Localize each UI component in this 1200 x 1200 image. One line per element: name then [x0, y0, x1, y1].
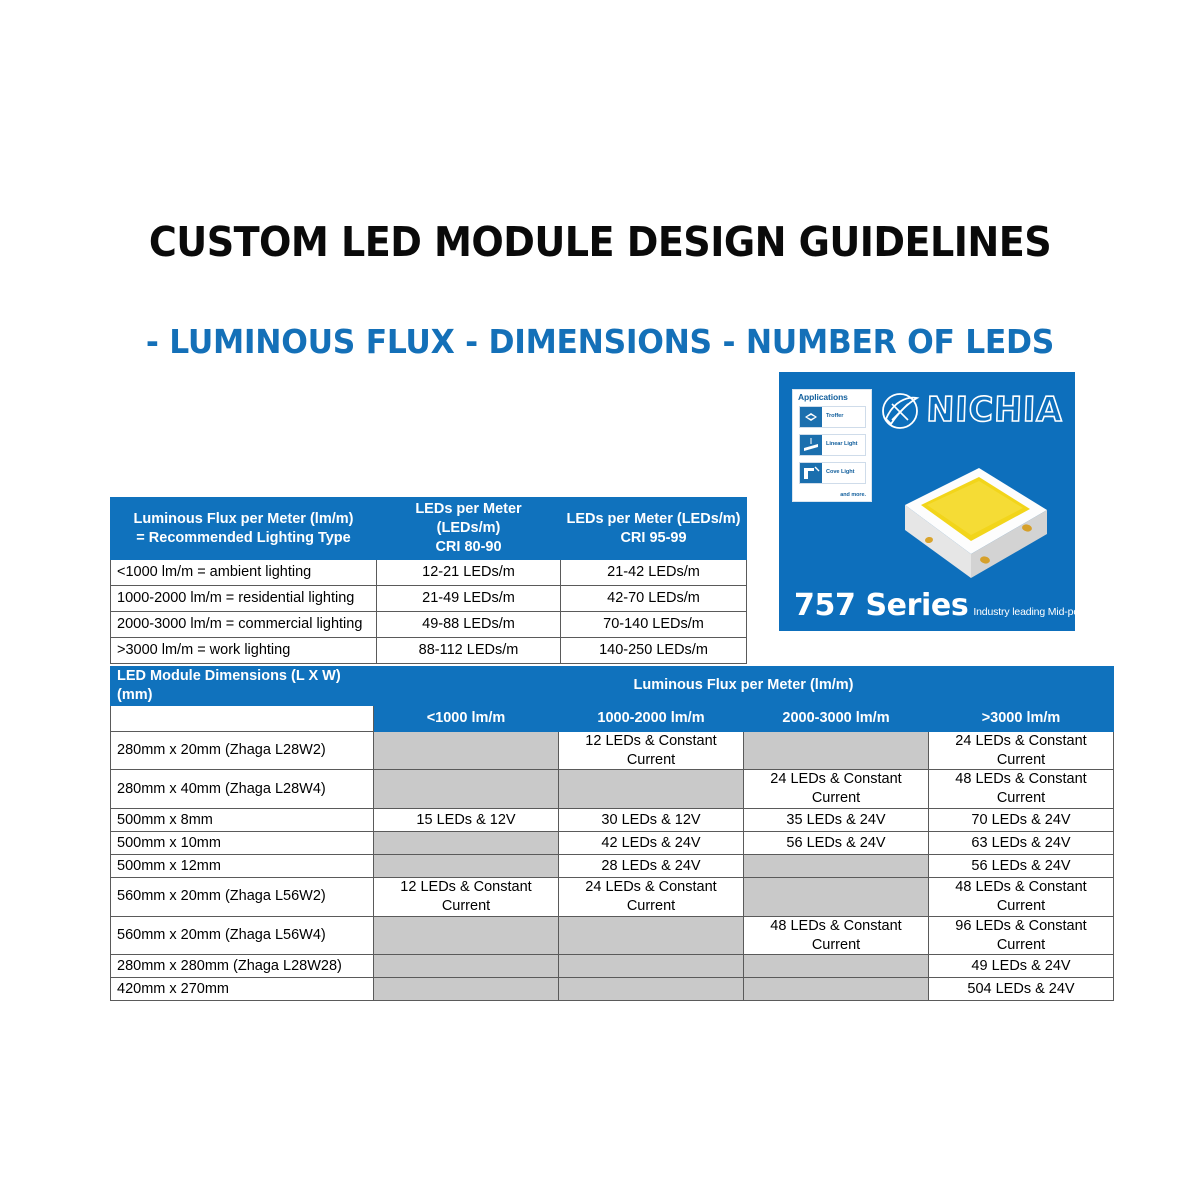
nichia-logo: NICHIA [877, 388, 1059, 434]
nichia-wordmark: NICHIA [926, 390, 1064, 430]
cell-module-dimension: 500mm x 12mm [111, 855, 374, 878]
cell-led-config [744, 731, 929, 770]
cell-lighting-type: 2000-3000 lm/m = commercial lighting [111, 612, 377, 638]
nichia-product-card: Applications Troffer Linear Light Cove L… [779, 372, 1075, 631]
cell-led-config [744, 978, 929, 1001]
nichia-swoosh-icon [877, 388, 923, 434]
cell-lighting-type: >3000 lm/m = work lighting [111, 638, 377, 664]
column-header-cri-95-99: LEDs per Meter (LEDs/m) CRI 95-99 [561, 498, 747, 560]
cell-led-config: 42 LEDs & 24V [559, 832, 744, 855]
header-line-2: CRI 95-99 [566, 529, 741, 548]
cell-cri-80-90: 49-88 LEDs/m [377, 612, 561, 638]
series-name: 757 Series [794, 588, 968, 623]
cell-led-config: 56 LEDs & 24V [744, 832, 929, 855]
table-row: 420mm x 270mm504 LEDs & 24V [111, 978, 1114, 1001]
and-more-label: and more. [840, 492, 866, 498]
cell-led-config [374, 955, 559, 978]
cove-light-icon [800, 463, 822, 483]
table-row: 500mm x 10mm42 LEDs & 24V56 LEDs & 24V63… [111, 832, 1114, 855]
cell-led-config: 49 LEDs & 24V [929, 955, 1114, 978]
cell-led-config [559, 770, 744, 809]
page-subtitle: - LUMINOUS FLUX - DIMENSIONS - NUMBER OF… [30, 322, 1170, 361]
cell-led-config: 56 LEDs & 24V [929, 855, 1114, 878]
cell-led-config: 48 LEDs & Constant Current [744, 916, 929, 955]
application-item-cove-light: Cove Light [799, 462, 866, 484]
table-group-header-row: LED Module Dimensions (L X W)(mm) Lumino… [111, 667, 1114, 706]
column-header-cri-80-90: LEDs per Meter (LEDs/m) CRI 80-90 [377, 498, 561, 560]
linear-light-icon [800, 435, 822, 455]
cell-led-config [559, 916, 744, 955]
table-row: 560mm x 20mm (Zhaga L56W2)12 LEDs & Cons… [111, 878, 1114, 917]
applications-title: Applications [798, 392, 848, 402]
application-label: Cove Light [826, 469, 854, 475]
cell-cri-80-90: 88-112 LEDs/m [377, 638, 561, 664]
series-tagline: Industry leading Mid-power LED [973, 606, 1075, 618]
page-title: CUSTOM LED MODULE DESIGN GUIDELINES [42, 218, 1158, 266]
applications-panel: Applications Troffer Linear Light Cove L… [792, 389, 872, 502]
series-caption: 757 SeriesIndustry leading Mid-power LED [794, 588, 1075, 623]
cell-led-config [744, 878, 929, 917]
cell-led-config: 48 LEDs & Constant Current [929, 770, 1114, 809]
cell-led-config: 504 LEDs & 24V [929, 978, 1114, 1001]
cell-led-config: 24 LEDs & Constant Current [744, 770, 929, 809]
application-item-linear-light: Linear Light [799, 434, 866, 456]
table-subheader-row: <1000 lm/m 1000-2000 lm/m 2000-3000 lm/m… [111, 705, 1114, 731]
application-item-troffer: Troffer [799, 406, 866, 428]
cell-led-config: 63 LEDs & 24V [929, 832, 1114, 855]
cell-module-dimension: 280mm x 20mm (Zhaga L28W2) [111, 731, 374, 770]
cell-led-config [374, 731, 559, 770]
header-line-1: LEDs per Meter (LEDs/m) [415, 501, 521, 536]
table-row: >3000 lm/m = work lighting 88-112 LEDs/m… [111, 638, 747, 664]
table-row: 1000-2000 lm/m = residential lighting 21… [111, 586, 747, 612]
cell-led-config: 28 LEDs & 24V [559, 855, 744, 878]
cell-led-config: 30 LEDs & 12V [559, 809, 744, 832]
application-label: Linear Light [826, 441, 857, 447]
table-row: 2000-3000 lm/m = commercial lighting 49-… [111, 612, 747, 638]
table-row: 500mm x 12mm28 LEDs & 24V56 LEDs & 24V [111, 855, 1114, 878]
cell-module-dimension: 500mm x 8mm [111, 809, 374, 832]
cell-led-config [744, 955, 929, 978]
cell-module-dimension: 560mm x 20mm (Zhaga L56W2) [111, 878, 374, 917]
cell-led-config [374, 916, 559, 955]
cell-led-config [559, 955, 744, 978]
cell-led-config: 96 LEDs & Constant Current [929, 916, 1114, 955]
subheader-2000-3000: 2000-3000 lm/m [744, 705, 929, 731]
cell-cri-80-90: 21-49 LEDs/m [377, 586, 561, 612]
header-line-2: CRI 80-90 [382, 538, 555, 557]
table-row: 280mm x 20mm (Zhaga L28W2)12 LEDs & Cons… [111, 731, 1114, 770]
application-label: Troffer [826, 413, 843, 419]
cell-led-config: 48 LEDs & Constant Current [929, 878, 1114, 917]
cell-led-config [744, 855, 929, 878]
cell-led-config [374, 978, 559, 1001]
cell-cri-95-99: 42-70 LEDs/m [561, 586, 747, 612]
cell-led-config: 70 LEDs & 24V [929, 809, 1114, 832]
column-header-dimensions: LED Module Dimensions (L X W)(mm) [111, 667, 374, 706]
cell-led-config: 24 LEDs & Constant Current [559, 878, 744, 917]
group-header-luminous-flux: Luminous Flux per Meter (lm/m) [374, 667, 1114, 706]
subheader-1000-2000: 1000-2000 lm/m [559, 705, 744, 731]
cell-led-config: 12 LEDs & Constant Current [559, 731, 744, 770]
cell-module-dimension: 280mm x 280mm (Zhaga L28W28) [111, 955, 374, 978]
cell-lighting-type: <1000 lm/m = ambient lighting [111, 560, 377, 586]
luminous-flux-table: Luminous Flux per Meter (lm/m) = Recomme… [110, 497, 747, 664]
cell-led-config [374, 770, 559, 809]
header-line-1: Luminous Flux per Meter (lm/m) [134, 511, 354, 527]
cell-led-config: 12 LEDs & Constant Current [374, 878, 559, 917]
corner-spacer [111, 705, 374, 731]
header-line-1: LEDs per Meter (LEDs/m) [566, 511, 740, 527]
table-row: 560mm x 20mm (Zhaga L56W4)48 LEDs & Cons… [111, 916, 1114, 955]
table-header-row: Luminous Flux per Meter (lm/m) = Recomme… [111, 498, 747, 560]
subheader-over-3000: >3000 lm/m [929, 705, 1114, 731]
module-dimensions-table: LED Module Dimensions (L X W)(mm) Lumino… [110, 666, 1114, 1001]
cell-led-config: 24 LEDs & Constant Current [929, 731, 1114, 770]
cell-led-config: 35 LEDs & 24V [744, 809, 929, 832]
cell-lighting-type: 1000-2000 lm/m = residential lighting [111, 586, 377, 612]
cell-cri-95-99: 21-42 LEDs/m [561, 560, 747, 586]
cell-cri-80-90: 12-21 LEDs/m [377, 560, 561, 586]
cell-led-config [559, 978, 744, 1001]
cell-led-config: 15 LEDs & 12V [374, 809, 559, 832]
column-header-lighting-type: Luminous Flux per Meter (lm/m) = Recomme… [111, 498, 377, 560]
cell-led-config [374, 855, 559, 878]
subheader-under-1000: <1000 lm/m [374, 705, 559, 731]
troffer-icon [800, 407, 822, 427]
led-package-image [887, 450, 1057, 600]
cell-cri-95-99: 70-140 LEDs/m [561, 612, 747, 638]
table-row: 280mm x 280mm (Zhaga L28W28)49 LEDs & 24… [111, 955, 1114, 978]
header-line-2: = Recommended Lighting Type [116, 529, 371, 548]
table-row: 280mm x 40mm (Zhaga L28W4)24 LEDs & Cons… [111, 770, 1114, 809]
cell-module-dimension: 560mm x 20mm (Zhaga L56W4) [111, 916, 374, 955]
cell-cri-95-99: 140-250 LEDs/m [561, 638, 747, 664]
cell-module-dimension: 420mm x 270mm [111, 978, 374, 1001]
cell-module-dimension: 280mm x 40mm (Zhaga L28W4) [111, 770, 374, 809]
cell-module-dimension: 500mm x 10mm [111, 832, 374, 855]
table-row: 500mm x 8mm15 LEDs & 12V30 LEDs & 12V35 … [111, 809, 1114, 832]
cell-led-config [374, 832, 559, 855]
table-row: <1000 lm/m = ambient lighting 12-21 LEDs… [111, 560, 747, 586]
